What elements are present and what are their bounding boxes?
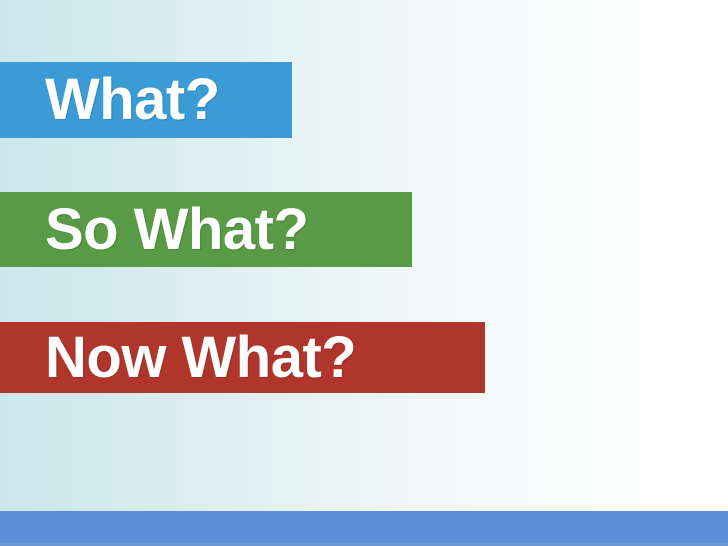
bar-now-what-label: Now What? [0,329,356,387]
bar-what: What? [0,62,292,138]
bar-what-label: What? [0,71,220,129]
slide-canvas: What? So What? Now What? [0,0,728,546]
footer-accent-band [0,511,728,546]
bar-so-what: So What? [0,192,412,267]
bar-now-what: Now What? [0,322,485,393]
bar-so-what-label: So What? [0,201,308,259]
